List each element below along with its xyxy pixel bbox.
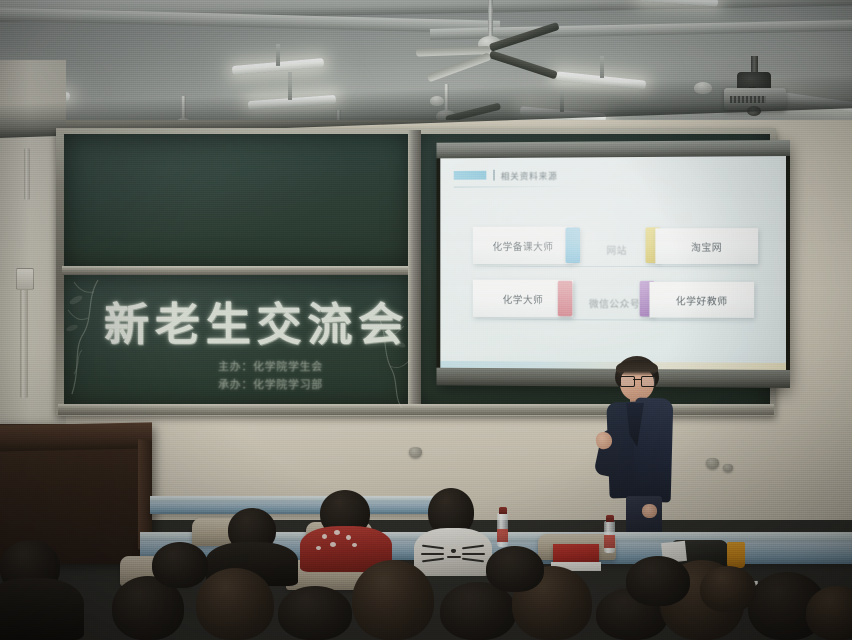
slide-tab-left xyxy=(558,281,573,317)
slide-tab-left xyxy=(566,227,581,263)
slide-accent-block xyxy=(454,171,487,180)
slide-header-text: 相关资料来源 xyxy=(501,169,558,182)
student-head xyxy=(700,566,756,612)
presenter-hand-lower xyxy=(642,504,657,518)
slide-card-left-label: 化学备课大师 xyxy=(493,238,554,253)
glasses-lens-right xyxy=(641,376,656,387)
blackboard-subtitle-line-1: 主办：化学院学生会 xyxy=(218,358,323,374)
slide-row-middle-label: 微信公众号 xyxy=(589,296,640,311)
slide-card-right[interactable]: 化学好教师 xyxy=(649,282,754,318)
orange-cup xyxy=(727,542,745,568)
light-hanger xyxy=(276,44,280,66)
water-bottle xyxy=(497,513,508,547)
top-pattern-dot xyxy=(334,530,340,535)
bottle-label xyxy=(604,535,615,548)
wall-speaker-icon xyxy=(409,447,422,458)
slide-card-right-label: 化学好教师 xyxy=(676,292,728,307)
slide-row: 化学大师 微信公众号 化学好教师 xyxy=(440,280,786,320)
student-shoulders xyxy=(0,578,84,640)
student-desk-rear-top xyxy=(150,496,450,502)
presentation-slide: 相关资料来源 化学备课大师 网站 淘宝网 xyxy=(440,156,786,370)
student-head xyxy=(806,586,852,640)
glasses-icon xyxy=(620,376,654,385)
cat-whisker xyxy=(422,558,444,562)
screen-surface: 相关资料来源 化学备课大师 网站 淘宝网 xyxy=(440,156,786,370)
cat-whisker xyxy=(462,553,485,555)
light-hanger xyxy=(600,56,604,78)
student-head xyxy=(352,560,434,640)
presenter-hair-front xyxy=(616,360,658,376)
slide-row-underline xyxy=(475,319,736,321)
glasses-bridge xyxy=(633,379,641,380)
blackboard-subtitle-line-2: 承办：化学院学习部 xyxy=(218,376,323,392)
cat-whisker xyxy=(422,545,444,549)
slide-row: 化学备课大师 网站 淘宝网 xyxy=(440,226,786,266)
projection-screen: 相关资料来源 化学备课大师 网站 淘宝网 xyxy=(437,140,790,388)
slide-header-rule xyxy=(454,186,579,188)
bottle-label xyxy=(497,529,508,542)
blackboard-upper-panel xyxy=(64,134,410,268)
wall-speaker-icon xyxy=(706,458,719,469)
presenter xyxy=(592,356,684,542)
top-pattern-dot xyxy=(316,546,321,550)
wall-junction-box xyxy=(16,268,34,290)
cat-whisker xyxy=(421,553,444,555)
podium-top-surface xyxy=(0,422,152,451)
top-pattern-dot xyxy=(352,543,357,547)
top-pattern-dot xyxy=(330,542,336,547)
wall-conduit-pipe xyxy=(20,272,28,398)
top-pattern-dot xyxy=(346,535,351,540)
glasses-lens-left xyxy=(620,376,635,387)
classroom-scene: 新老生交流会 主办：化学院学生会 承办：化学院学习部 相关资料来源 xyxy=(0,0,852,640)
ceiling-fan xyxy=(460,0,520,64)
slide-row-middle-label: 网站 xyxy=(606,242,627,257)
cat-face-print-icon xyxy=(420,540,486,566)
bottle-cap xyxy=(606,515,614,522)
blackboard-title-text: 新老生交流会 xyxy=(104,288,409,353)
slide-card-left[interactable]: 化学备课大师 xyxy=(473,227,573,264)
cat-whisker xyxy=(462,545,484,549)
student-head xyxy=(196,568,274,640)
slide-card-right-label: 淘宝网 xyxy=(691,239,722,254)
student-head xyxy=(152,542,208,588)
student-desk-rear xyxy=(150,500,450,514)
wall-speaker-icon xyxy=(723,464,733,472)
chalk-vine-decoration-right xyxy=(366,316,412,410)
slide-card-left-label: 化学大师 xyxy=(503,291,544,306)
slide-title-divider xyxy=(493,170,495,181)
slide-row-underline xyxy=(475,266,733,267)
blackboard-divider xyxy=(62,266,414,275)
water-bottle xyxy=(604,521,615,553)
cat-mouth xyxy=(447,556,461,558)
student-head xyxy=(626,556,690,606)
slide-card-right[interactable]: 淘宝网 xyxy=(655,228,758,264)
chalk-vine-decoration-left xyxy=(64,278,122,398)
student-desk-top xyxy=(140,532,440,541)
student-head xyxy=(486,546,544,592)
wall-conduit-pipe xyxy=(24,148,30,200)
student-head xyxy=(278,586,352,640)
cat-nose xyxy=(451,549,456,553)
cat-whisker xyxy=(462,558,484,562)
bottle-cap xyxy=(499,507,507,514)
fan-rod xyxy=(488,0,493,40)
top-pattern-dot xyxy=(322,534,327,539)
